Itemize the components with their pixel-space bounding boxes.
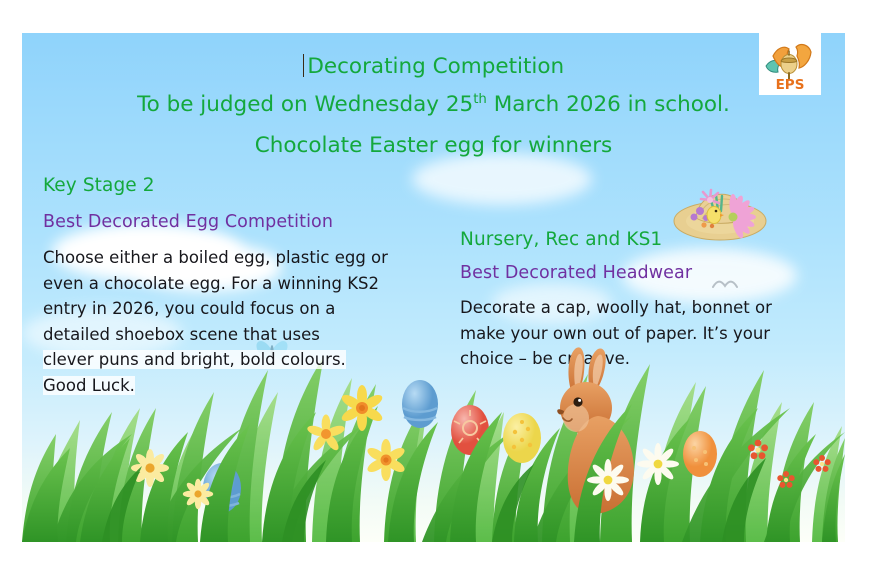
eps-logo-text: EPS xyxy=(776,77,805,92)
ks2-body-text: Choose either a boiled egg, plastic egg … xyxy=(43,245,455,398)
judging-date-suffix: March 2026 in school. xyxy=(487,92,730,117)
judging-date-line: To be judged on Wednesday 25th March 202… xyxy=(22,92,845,117)
ks2-body-line: Choose either a boiled egg, plastic egg … xyxy=(43,245,455,271)
easter-competition-poster: Decorating Competition To be judged on W… xyxy=(22,33,845,542)
ks2-body-line: entry in 2026, you could focus on a xyxy=(43,296,455,322)
ks2-body-line: even a chocolate egg. For a winning KS2 xyxy=(43,271,455,297)
ks2-subheading: Best Decorated Egg Competition xyxy=(43,212,455,232)
key-stage-2-column: Key Stage 2 Best Decorated Egg Competiti… xyxy=(43,175,455,398)
date-ordinal-suffix: th xyxy=(473,92,487,107)
text-cursor-caret xyxy=(303,54,305,77)
ks1-subheading: Best Decorated Headwear xyxy=(460,263,838,283)
acorn-oak-leaves-icon: EPS xyxy=(762,36,818,92)
prize-line: Chocolate Easter egg for winners xyxy=(22,133,845,158)
judging-date-prefix: To be judged on Wednesday 25 xyxy=(137,92,473,117)
ks2-heading: Key Stage 2 xyxy=(43,175,455,196)
poster-title-text: Decorating Competition xyxy=(307,54,564,79)
ks1-heading: Nursery, Rec and KS1 xyxy=(460,229,838,250)
poster-title: Decorating Competition xyxy=(22,54,845,79)
ks2-body-line: Good Luck. xyxy=(43,373,455,399)
eps-school-logo: EPS xyxy=(759,33,821,95)
ks2-body-line: detailed shoebox scene that uses xyxy=(43,322,455,348)
ks2-body-line: clever puns and bright, bold colours. xyxy=(43,347,455,373)
prize-text: Chocolate Easter egg for winners xyxy=(255,133,613,158)
